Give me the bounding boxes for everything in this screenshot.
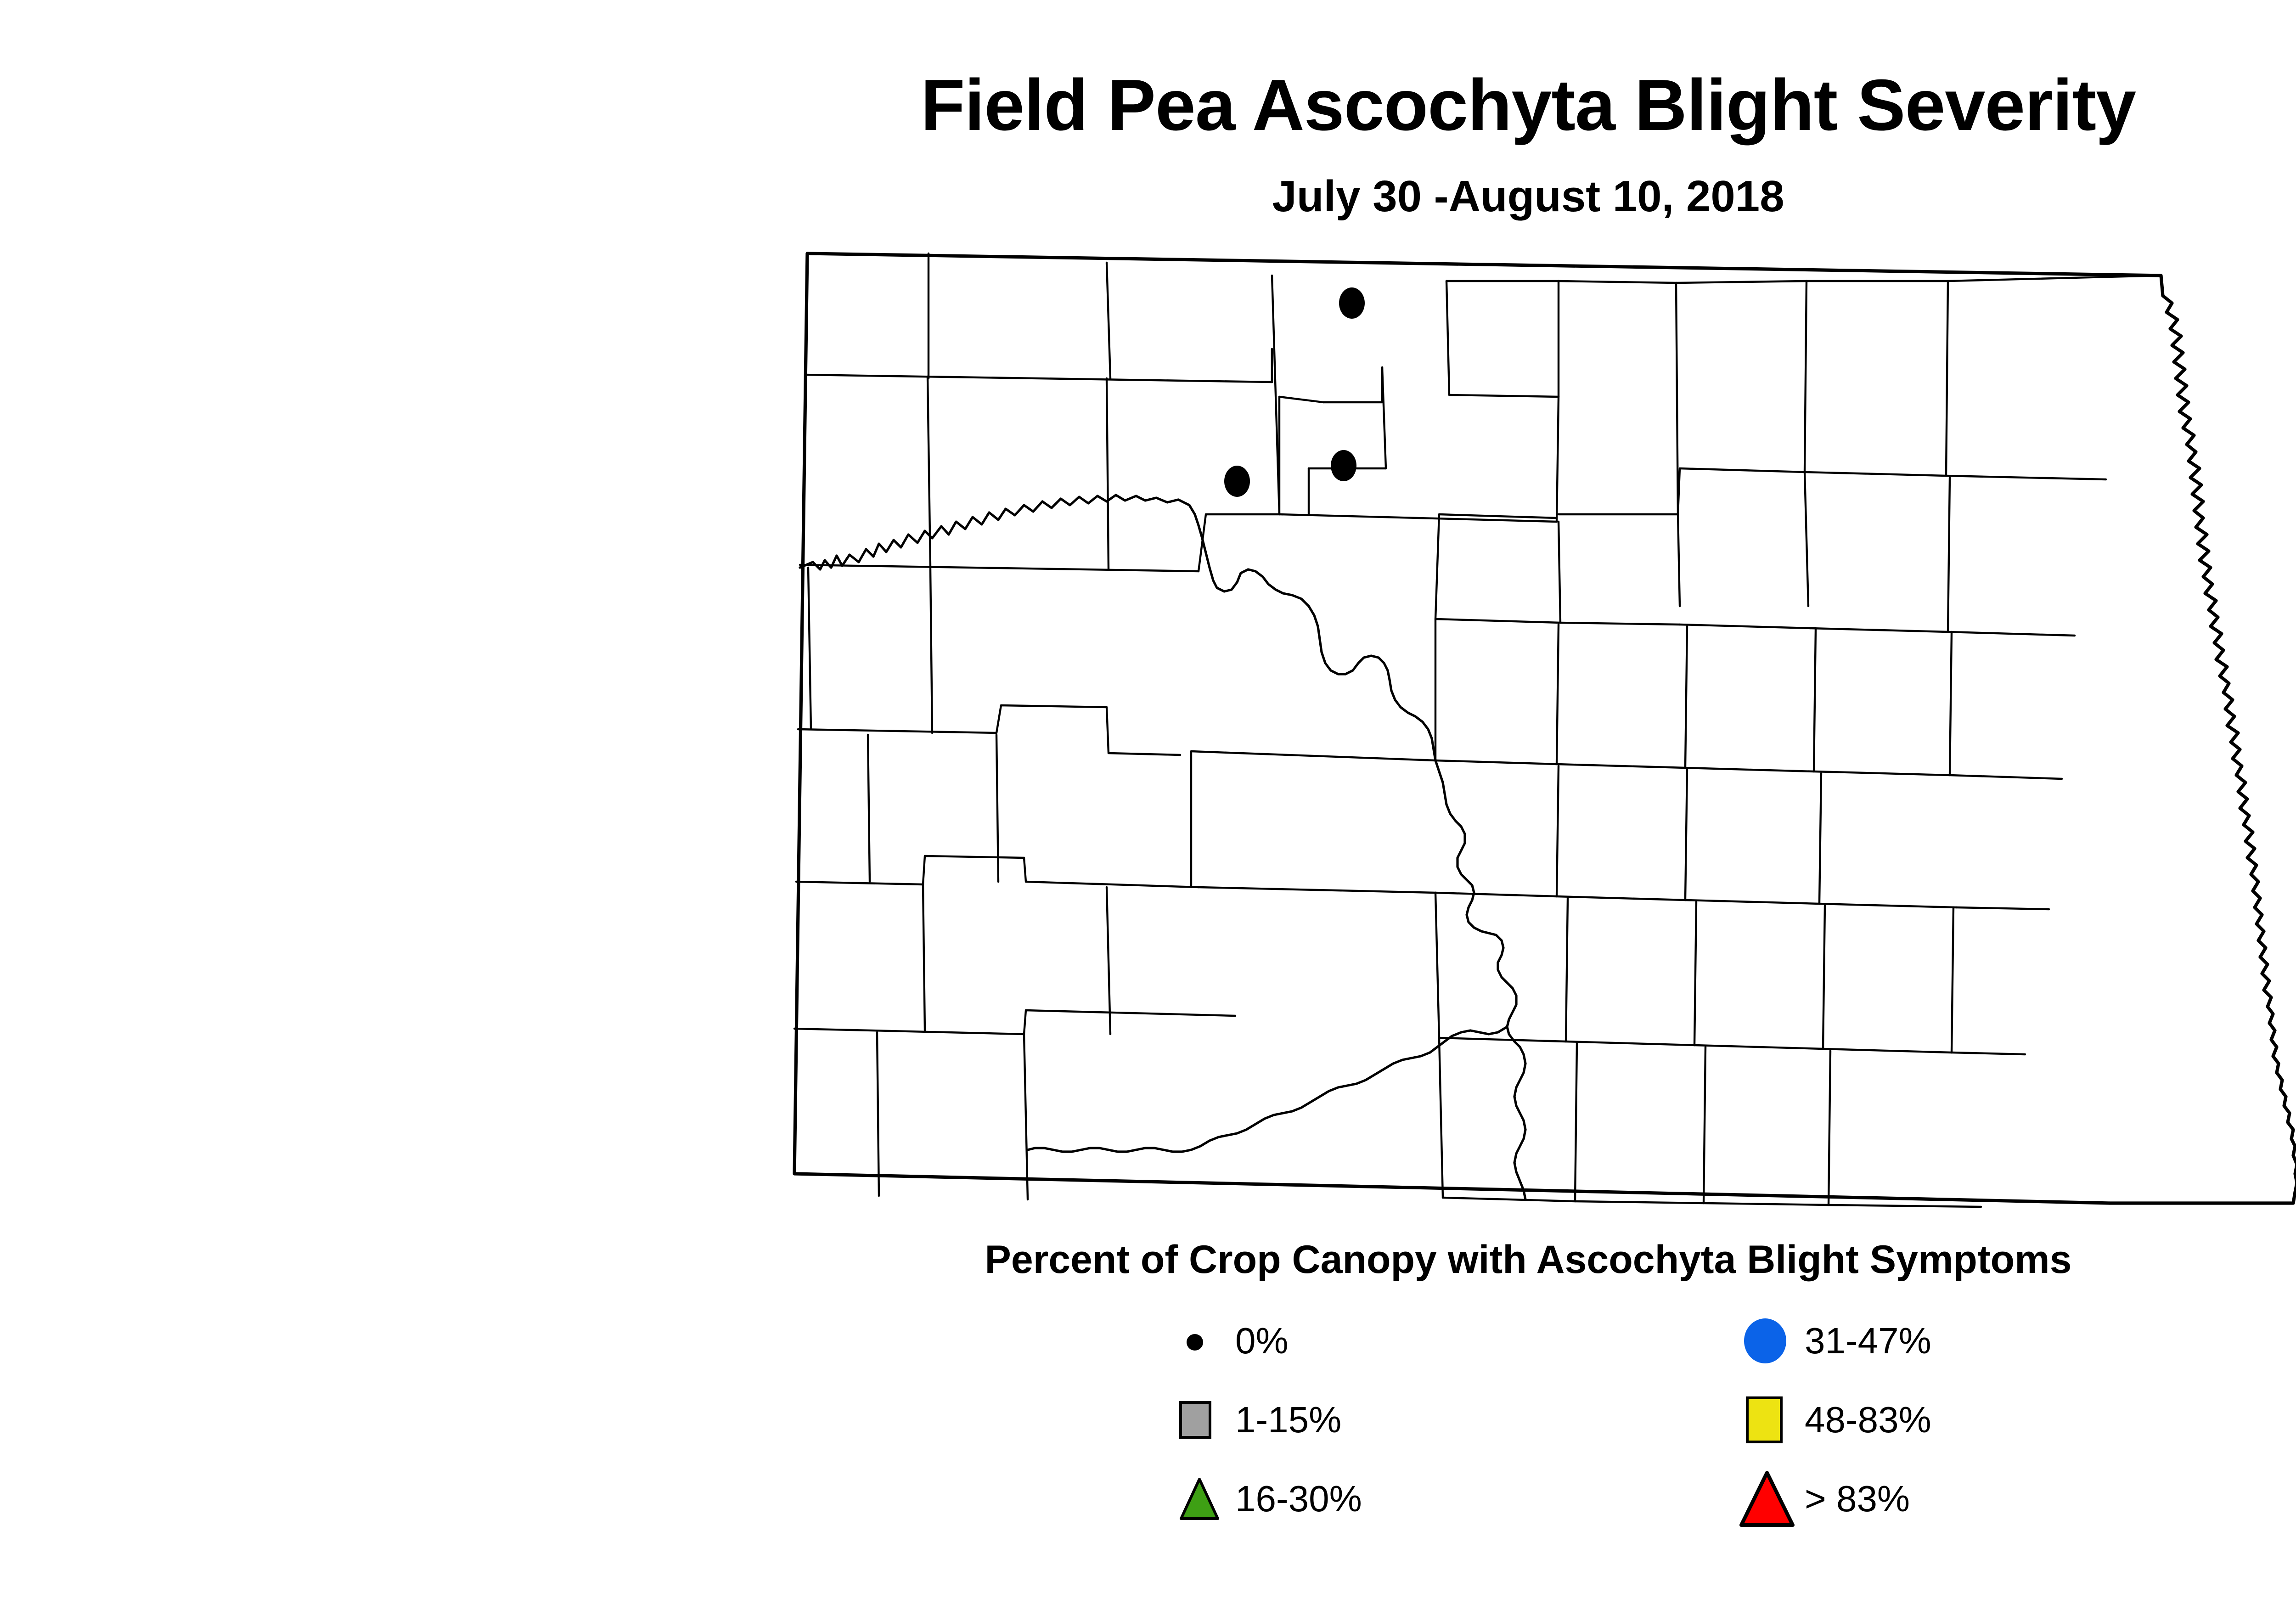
legend-label: 48-83% xyxy=(1805,1402,1931,1438)
data-point-0pct[interactable] xyxy=(1224,466,1250,497)
legend-symbol-circle-blue xyxy=(1736,1311,1805,1371)
legend-item-2[interactable]: 16-30% xyxy=(1166,1469,1362,1529)
north-dakota-map xyxy=(721,239,2296,1231)
legend-item-5[interactable]: > 83% xyxy=(1736,1469,1910,1529)
triangle-red-icon xyxy=(1736,1469,1805,1533)
legend-label: 16-30% xyxy=(1235,1481,1362,1517)
data-point-0pct[interactable] xyxy=(1331,450,1356,481)
county-boundaries xyxy=(794,253,2161,1207)
legend-item-4[interactable]: 48-83% xyxy=(1736,1390,1931,1450)
legend-heading: Percent of Crop Canopy with Ascochyta Bl… xyxy=(0,1240,2296,1279)
legend-item-1[interactable]: 1-15% xyxy=(1166,1390,1341,1450)
data-point-0pct[interactable] xyxy=(1339,287,1365,319)
legend-label: 31-47% xyxy=(1805,1323,1931,1359)
legend-label: 0% xyxy=(1235,1323,1289,1359)
map-svg xyxy=(721,239,2296,1231)
data-points xyxy=(1224,287,1365,497)
legend-symbol-triangle-green xyxy=(1166,1469,1235,1529)
legend-symbol-square-yellow xyxy=(1736,1390,1805,1450)
page-title: Field Pea Ascochyta Blight Severity xyxy=(0,69,2296,141)
legend-label: > 83% xyxy=(1805,1481,1910,1517)
legend-symbol-triangle-red xyxy=(1736,1469,1805,1529)
legend-label: 1-15% xyxy=(1235,1402,1341,1438)
triangle-green-icon xyxy=(1166,1469,1235,1529)
legend-symbol-square-gray xyxy=(1166,1390,1235,1450)
legend-item-0[interactable]: 0% xyxy=(1166,1311,1289,1371)
legend: 0% 1-15% 16-30% 31-47% 48-83% xyxy=(1166,1311,2085,1568)
legend-symbol-circle-black xyxy=(1166,1311,1235,1371)
page-subtitle: July 30 -August 10, 2018 xyxy=(0,175,2296,219)
legend-item-3[interactable]: 31-47% xyxy=(1736,1311,1931,1371)
